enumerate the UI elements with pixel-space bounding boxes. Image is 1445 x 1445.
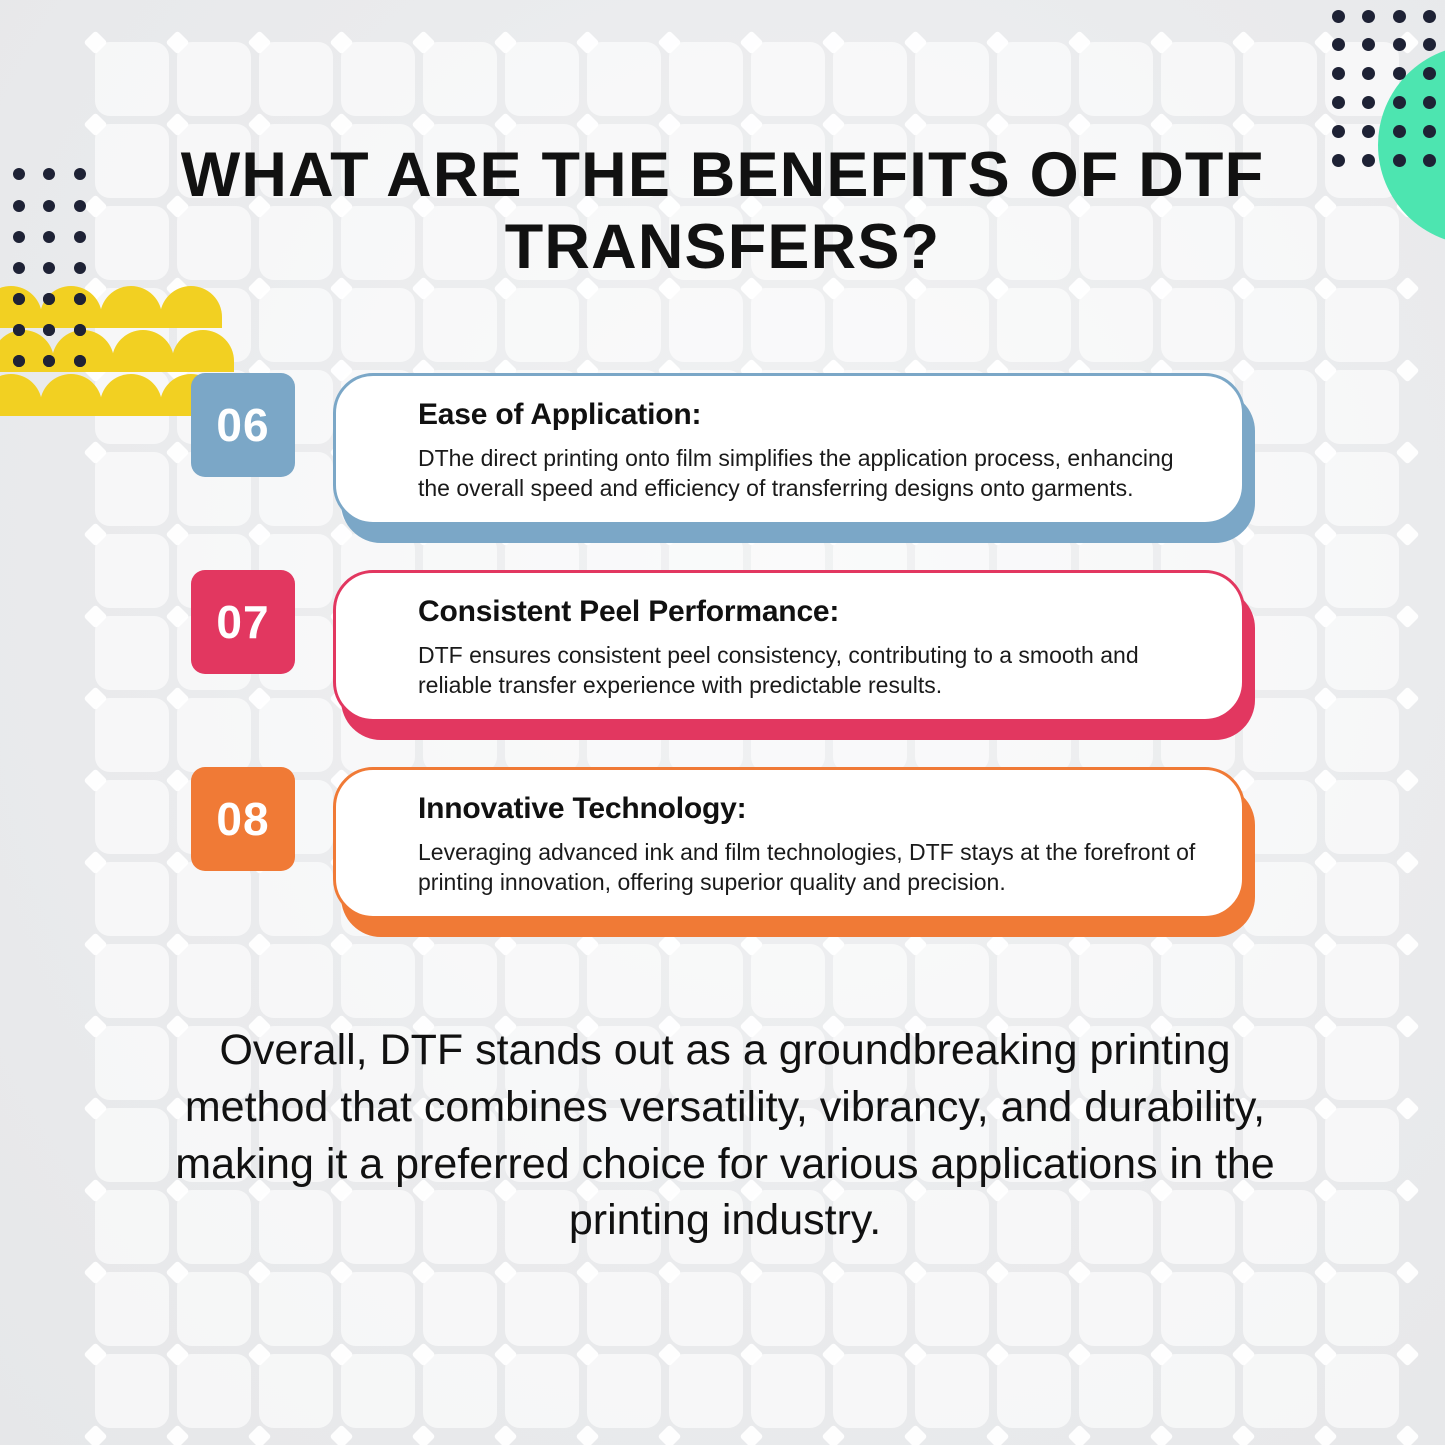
grid-node (821, 1342, 845, 1366)
grid-tile (915, 944, 989, 1018)
grid-tile (423, 944, 497, 1018)
grid-node (903, 112, 927, 136)
decorative-dot (1362, 67, 1375, 80)
decorative-dot (43, 262, 55, 274)
grid-tile (259, 944, 333, 1018)
grid-node (1313, 276, 1337, 300)
grid-node (83, 1260, 107, 1284)
grid-tile (915, 1272, 989, 1346)
decorative-dot (43, 293, 55, 305)
grid-tile (915, 42, 989, 116)
grid-node (1231, 1424, 1255, 1445)
grid-tile (505, 288, 579, 362)
decorative-dot (1423, 67, 1436, 80)
card-body-07: DTF ensures consistent peel consistency,… (418, 640, 1202, 701)
grid-node (83, 30, 107, 54)
grid-node (821, 1424, 845, 1445)
grid-tile (1161, 288, 1235, 362)
grid-tile (833, 1354, 907, 1428)
decorative-dot (43, 355, 55, 367)
decorative-dot (13, 200, 25, 212)
grid-node (83, 1014, 107, 1038)
yellow-semicircle (100, 286, 162, 328)
grid-node (739, 30, 763, 54)
decorative-dot (1362, 38, 1375, 51)
decorative-dot (74, 293, 86, 305)
grid-node (83, 112, 107, 136)
grid-node (903, 1424, 927, 1445)
grid-tile (915, 288, 989, 362)
grid-node (657, 1342, 681, 1366)
decorative-dot (1362, 96, 1375, 109)
decorative-dot (13, 168, 25, 180)
grid-tile (341, 288, 415, 362)
grid-tile (95, 1272, 169, 1346)
grid-node (575, 112, 599, 136)
infographic-stage: WHAT ARE THE BENEFITS OF DTF TRANSFERS? … (0, 0, 1445, 1445)
grid-node (411, 1342, 435, 1366)
grid-node (903, 30, 927, 54)
yellow-semicircle (112, 330, 174, 372)
grid-tile (177, 944, 251, 1018)
grid-tile (1161, 944, 1235, 1018)
grid-node (657, 1260, 681, 1284)
grid-node (1313, 1260, 1337, 1284)
grid-tile (587, 944, 661, 1018)
decorative-dot (43, 168, 55, 180)
closing-paragraph: Overall, DTF stands out as a groundbreak… (175, 1022, 1275, 1249)
decorative-dot (43, 324, 55, 336)
grid-tile (341, 1272, 415, 1346)
grid-node (1067, 1260, 1091, 1284)
grid-node (1313, 1342, 1337, 1366)
grid-node (247, 30, 271, 54)
grid-tile (95, 42, 169, 116)
grid-tile (1079, 42, 1153, 116)
grid-tile (423, 42, 497, 116)
grid-tile (1243, 944, 1317, 1018)
benefit-row-06: 06 Ease of Application: DThe direct prin… (0, 373, 1445, 543)
grid-node (165, 1342, 189, 1366)
grid-tile (997, 1272, 1071, 1346)
grid-node (329, 1260, 353, 1284)
grid-node (903, 1260, 927, 1284)
benefit-row-07: 07 Consistent Peel Performance: DTF ensu… (0, 570, 1445, 740)
grid-tile (423, 1354, 497, 1428)
grid-tile (505, 42, 579, 116)
decorative-dot (1423, 96, 1436, 109)
grid-node (493, 112, 517, 136)
decorative-dot (1393, 125, 1406, 138)
decorative-dot (13, 293, 25, 305)
grid-tile (669, 1354, 743, 1428)
grid-tile (1325, 1190, 1399, 1264)
decorative-dot (13, 324, 25, 336)
grid-node (1395, 276, 1419, 300)
grid-node (739, 112, 763, 136)
grid-node (1313, 194, 1337, 218)
grid-tile (177, 1272, 251, 1346)
grid-node (411, 30, 435, 54)
grid-node (247, 112, 271, 136)
grid-tile (341, 1354, 415, 1428)
grid-node (1231, 112, 1255, 136)
grid-tile (997, 1354, 1071, 1428)
grid-node (1067, 1342, 1091, 1366)
decorative-dot (74, 355, 86, 367)
decorative-dot (1362, 154, 1375, 167)
decorative-dot (74, 231, 86, 243)
grid-tile (1243, 288, 1317, 362)
grid-node (1231, 30, 1255, 54)
grid-tile (669, 1272, 743, 1346)
grid-node (493, 30, 517, 54)
benefit-row-08: 08 Innovative Technology: Leveraging adv… (0, 767, 1445, 937)
grid-tile (259, 1272, 333, 1346)
decorative-dot (13, 355, 25, 367)
decorative-dot (13, 231, 25, 243)
decorative-dot (1332, 96, 1345, 109)
grid-node (1149, 1260, 1173, 1284)
grid-node (1395, 1096, 1419, 1120)
grid-tile (505, 1354, 579, 1428)
decorative-dot (1332, 125, 1345, 138)
card-title-07: Consistent Peel Performance: (418, 595, 1202, 628)
yellow-semicircle (160, 286, 222, 328)
grid-tile (505, 1272, 579, 1346)
grid-node (247, 1342, 271, 1366)
decorative-dot (1393, 67, 1406, 80)
grid-node (1395, 1342, 1419, 1366)
grid-tile (1325, 1272, 1399, 1346)
grid-tile (341, 944, 415, 1018)
grid-tile (1325, 1354, 1399, 1428)
grid-tile (751, 944, 825, 1018)
grid-node (985, 1260, 1009, 1284)
decorative-dot (1393, 38, 1406, 51)
decorative-dot (1393, 10, 1406, 23)
grid-tile (423, 288, 497, 362)
grid-node (1149, 1424, 1173, 1445)
decorative-dot (1362, 125, 1375, 138)
grid-node (985, 1342, 1009, 1366)
grid-tile (1325, 288, 1399, 362)
grid-node (1231, 1260, 1255, 1284)
grid-node (329, 1424, 353, 1445)
grid-node (575, 1424, 599, 1445)
card-title-06: Ease of Application: (418, 398, 1202, 431)
grid-node (83, 1178, 107, 1202)
grid-node (657, 112, 681, 136)
grid-node (329, 1342, 353, 1366)
grid-tile (997, 944, 1071, 1018)
decorative-dot (1332, 67, 1345, 80)
decorative-dot (43, 231, 55, 243)
grid-tile (751, 1354, 825, 1428)
card-title-08: Innovative Technology: (418, 792, 1202, 825)
grid-node (1313, 1424, 1337, 1445)
grid-tile (505, 944, 579, 1018)
decorative-dot (1332, 10, 1345, 23)
grid-node (83, 1096, 107, 1120)
grid-tile (669, 944, 743, 1018)
grid-node (1149, 1342, 1173, 1366)
grid-node (1395, 1178, 1419, 1202)
grid-node (165, 30, 189, 54)
decorative-dot (1423, 154, 1436, 167)
grid-tile (95, 944, 169, 1018)
grid-node (739, 1342, 763, 1366)
grid-tile (997, 288, 1071, 362)
grid-tile (259, 42, 333, 116)
grid-tile (1325, 206, 1399, 280)
grid-tile (95, 1190, 169, 1264)
decorative-dot (1332, 38, 1345, 51)
yellow-semicircle (172, 330, 234, 372)
grid-node (1313, 1096, 1337, 1120)
grid-tile (751, 1272, 825, 1346)
card-body-08: Leveraging advanced ink and film technol… (418, 837, 1202, 898)
grid-tile (259, 288, 333, 362)
decorative-dot (1423, 125, 1436, 138)
grid-node (821, 30, 845, 54)
grid-node (165, 112, 189, 136)
grid-node (657, 1424, 681, 1445)
page-title: WHAT ARE THE BENEFITS OF DTF TRANSFERS? (150, 140, 1295, 284)
decorative-dot (13, 262, 25, 274)
grid-node (411, 112, 435, 136)
grid-tile (751, 288, 825, 362)
grid-tile (833, 42, 907, 116)
grid-tile (1325, 1108, 1399, 1182)
decorative-dot (1393, 96, 1406, 109)
grid-node (493, 1342, 517, 1366)
grid-tile (751, 42, 825, 116)
grid-node (1313, 1014, 1337, 1038)
grid-tile (833, 288, 907, 362)
grid-node (165, 1260, 189, 1284)
grid-node (739, 1260, 763, 1284)
grid-node (83, 1342, 107, 1366)
grid-tile (1079, 288, 1153, 362)
grid-node (1395, 1014, 1419, 1038)
grid-node (575, 1260, 599, 1284)
grid-node (1231, 1342, 1255, 1366)
grid-tile (669, 288, 743, 362)
grid-tile (1243, 1272, 1317, 1346)
grid-node (493, 1260, 517, 1284)
decorative-dot (74, 168, 86, 180)
grid-tile (587, 1272, 661, 1346)
grid-tile (1161, 1272, 1235, 1346)
grid-tile (587, 288, 661, 362)
grid-node (329, 112, 353, 136)
grid-node (83, 194, 107, 218)
grid-node (821, 1260, 845, 1284)
grid-node (903, 1342, 927, 1366)
grid-node (1395, 1260, 1419, 1284)
grid-node (575, 30, 599, 54)
decorative-dot (1393, 154, 1406, 167)
grid-node (411, 1424, 435, 1445)
grid-node (985, 112, 1009, 136)
grid-tile (177, 1354, 251, 1428)
number-badge-06: 06 (191, 373, 295, 477)
grid-tile (997, 42, 1071, 116)
grid-tile (1079, 1354, 1153, 1428)
grid-tile (587, 42, 661, 116)
grid-node (575, 1342, 599, 1366)
yellow-semicircle (0, 286, 42, 328)
decorative-dot (74, 262, 86, 274)
number-badge-07: 07 (191, 570, 295, 674)
grid-node (821, 112, 845, 136)
decorative-dot (1332, 154, 1345, 167)
grid-node (657, 30, 681, 54)
card-surface-08: Innovative Technology: Leveraging advanc… (333, 767, 1245, 919)
grid-node (1313, 1178, 1337, 1202)
grid-tile (1161, 1354, 1235, 1428)
grid-tile (1079, 944, 1153, 1018)
grid-tile (341, 42, 415, 116)
grid-node (493, 1424, 517, 1445)
decorative-dot (1362, 10, 1375, 23)
grid-node (165, 1424, 189, 1445)
grid-node (1149, 30, 1173, 54)
grid-node (247, 1260, 271, 1284)
grid-tile (95, 1108, 169, 1182)
number-badge-08: 08 (191, 767, 295, 871)
grid-tile (1243, 42, 1317, 116)
grid-node (739, 1424, 763, 1445)
grid-tile (915, 1354, 989, 1428)
grid-node (1067, 1424, 1091, 1445)
grid-node (1395, 1424, 1419, 1445)
decorative-dot (74, 324, 86, 336)
grid-node (83, 1424, 107, 1445)
grid-tile (259, 1354, 333, 1428)
decorative-dot (1423, 10, 1436, 23)
card-body-06: DThe direct printing onto film simplifie… (418, 443, 1202, 504)
card-surface-07: Consistent Peel Performance: DTF ensures… (333, 570, 1245, 722)
grid-tile (95, 1026, 169, 1100)
grid-node (247, 1424, 271, 1445)
grid-tile (95, 1354, 169, 1428)
grid-tile (1161, 42, 1235, 116)
grid-node (985, 1424, 1009, 1445)
grid-tile (1243, 1354, 1317, 1428)
grid-node (1149, 112, 1173, 136)
decorative-dot (43, 200, 55, 212)
decorative-dot (1423, 38, 1436, 51)
grid-tile (1079, 1272, 1153, 1346)
benefit-card-06[interactable]: Ease of Application: DThe direct printin… (333, 373, 1255, 531)
decorative-dot (74, 200, 86, 212)
benefit-card-07[interactable]: Consistent Peel Performance: DTF ensures… (333, 570, 1255, 728)
grid-node (1067, 112, 1091, 136)
grid-node (329, 30, 353, 54)
grid-tile (177, 42, 251, 116)
grid-tile (669, 42, 743, 116)
grid-tile (833, 944, 907, 1018)
card-surface-06: Ease of Application: DThe direct printin… (333, 373, 1245, 525)
grid-node (1067, 30, 1091, 54)
grid-tile (423, 1272, 497, 1346)
grid-tile (1325, 944, 1399, 1018)
grid-node (411, 1260, 435, 1284)
grid-node (985, 30, 1009, 54)
grid-tile (1325, 1026, 1399, 1100)
benefit-card-08[interactable]: Innovative Technology: Leveraging advanc… (333, 767, 1255, 925)
grid-tile (833, 1272, 907, 1346)
grid-tile (587, 1354, 661, 1428)
